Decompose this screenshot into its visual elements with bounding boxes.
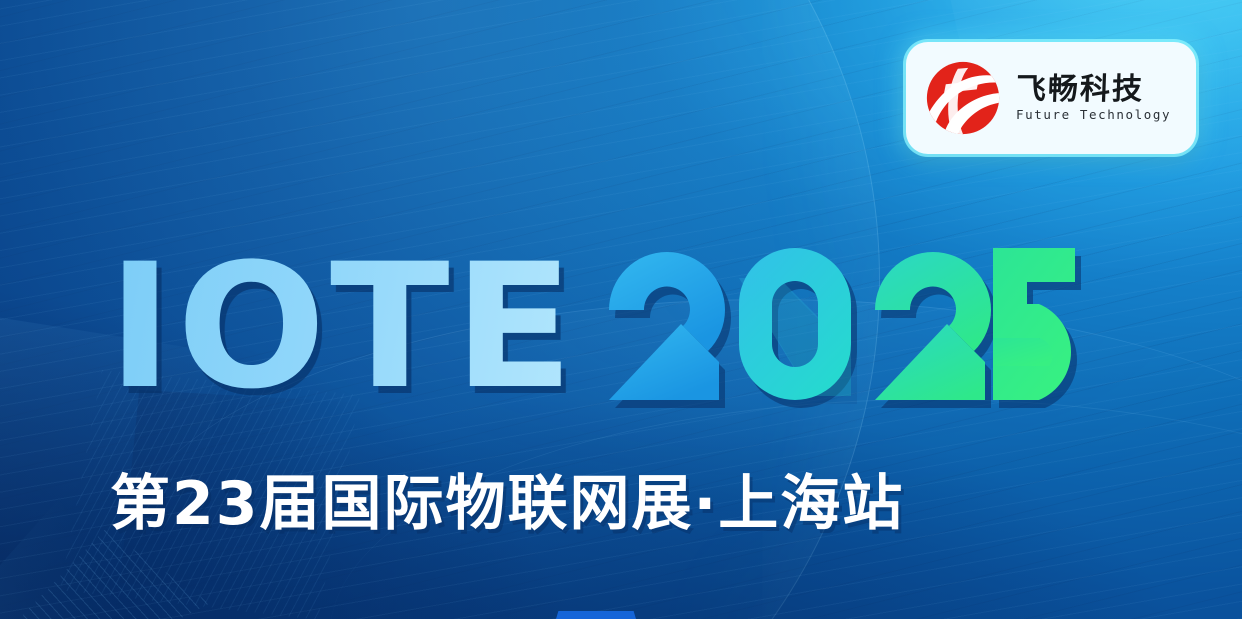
- iote-2025-banner: 飞畅科技 Future Technology IOTE: [0, 0, 1242, 619]
- iote-wordmark: IOTE: [112, 248, 1077, 406]
- banner-subtitle: 第23届国际物联网展·上海站: [110, 455, 904, 542]
- logo-text-block: 飞畅科技 Future Technology: [1016, 75, 1171, 122]
- year-2025-glyphs: [607, 248, 1077, 400]
- company-logo-badge[interactable]: 飞畅科技 Future Technology: [906, 42, 1196, 154]
- bottom-center-tab: [556, 611, 636, 619]
- logo-company-name-en: Future Technology: [1016, 109, 1171, 122]
- iote-letters: IOTE: [107, 248, 577, 406]
- fc-circular-brush-mark-icon: [920, 55, 1006, 141]
- logo-company-name-cn: 飞畅科技: [1015, 75, 1171, 105]
